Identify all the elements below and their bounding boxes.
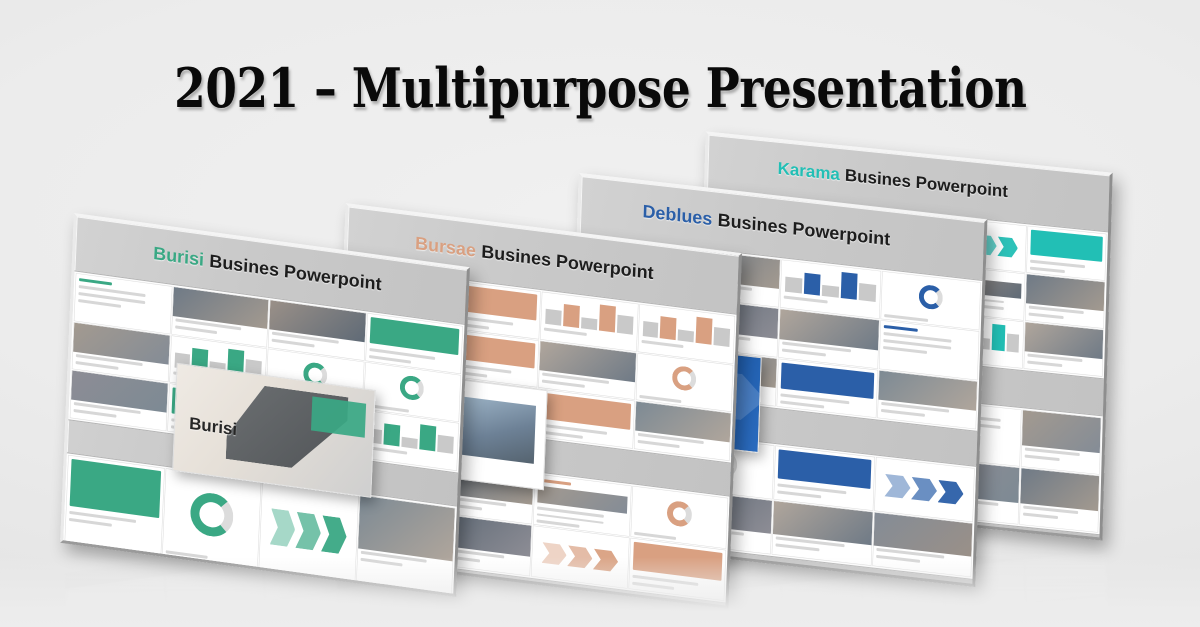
chevron-icon [270, 508, 296, 547]
slide-text-line [637, 440, 680, 448]
brand-name-burisi: Burisi [153, 243, 205, 271]
slide-text-line [1030, 267, 1065, 274]
slide-thumbnail[interactable] [531, 526, 628, 588]
slide-photo [1025, 322, 1104, 358]
slide-text-line [175, 325, 218, 334]
chevron-icon [541, 542, 567, 566]
slide-thumbnail[interactable] [537, 389, 634, 448]
slide-chevron-arrows [531, 526, 628, 588]
slide-photo [1022, 410, 1101, 453]
brand-name-karama: Karama [777, 159, 840, 185]
chevron-icon [567, 545, 593, 569]
slide-thumbnail[interactable] [774, 446, 874, 510]
slide-thumbnail[interactable] [879, 321, 979, 379]
chevron-icon [593, 548, 619, 572]
chart-bar [402, 436, 418, 449]
chart-bar [678, 330, 694, 343]
chart-bar [642, 321, 658, 338]
slide-thumbnail[interactable] [872, 512, 972, 576]
slide-thumbnail[interactable] [1020, 468, 1099, 532]
slide-text-line [272, 339, 315, 348]
chart-bar [563, 304, 580, 328]
slide-thumbnail[interactable] [162, 469, 261, 568]
slide-thumbnail[interactable] [356, 495, 455, 594]
hero-accent-shape [311, 396, 366, 437]
slide-text-line [782, 348, 826, 356]
slide-accent-block [781, 362, 874, 399]
slide-text-line [1025, 454, 1060, 461]
chart-bar [696, 317, 713, 345]
slide-text-line [1029, 312, 1064, 319]
chart-bar [384, 423, 401, 447]
chevron-icon [295, 512, 321, 551]
slide-text-line [784, 296, 828, 304]
slide-text-line [69, 518, 112, 527]
slide-text-line [78, 299, 121, 308]
slide-chevron-arrows [874, 457, 974, 521]
slide-text-line [1027, 360, 1062, 367]
chevron-icon [997, 237, 1018, 258]
slide-text-line [540, 430, 583, 438]
chart-bar [785, 277, 802, 294]
slide-thumbnail[interactable] [533, 474, 630, 536]
slide-thumbnail[interactable] [874, 457, 974, 521]
slide-text-line [74, 409, 117, 418]
brand-name-bursae: Bursae [415, 233, 477, 262]
chart-bar [437, 435, 454, 455]
slide-photo [1020, 468, 1099, 511]
slide-thumbnail[interactable] [631, 486, 728, 548]
chart-bar [581, 317, 597, 330]
slide-text-line [632, 581, 675, 589]
page-title-container: 2021 – Multipurpose Presentation [0, 56, 1200, 120]
slide-text-line [542, 379, 585, 387]
chart-bar [419, 424, 436, 452]
slide-accent-rule [883, 325, 917, 332]
hero-photo [452, 396, 536, 464]
slide-text-line [544, 328, 587, 336]
chart-bar [616, 315, 633, 335]
chart-bar [840, 272, 857, 300]
slide-thumbnail[interactable] [779, 309, 879, 367]
template-panel-burisi[interactable]: Burisi Busines Powerpoint Burisi [60, 213, 470, 597]
slide-thumbnail[interactable] [1027, 226, 1106, 280]
hero-word-burisi: Burisi [189, 414, 238, 441]
donut-ring [400, 375, 425, 402]
slide-text-line [881, 409, 925, 417]
slide-accent-rule [79, 278, 112, 286]
slide-text-line [883, 346, 927, 354]
chevron-icon [885, 474, 911, 499]
slide-thumbnail[interactable] [881, 272, 981, 330]
slide-text-line [876, 555, 920, 563]
chart-bar [714, 327, 731, 347]
panel-suffix-burisi: Busines Powerpoint [209, 250, 382, 295]
slide-thumbnail[interactable] [777, 359, 877, 417]
chart-bar [803, 272, 820, 296]
slide-accent-block [541, 393, 631, 430]
donut-ring [672, 365, 697, 392]
chevron-icon [321, 515, 347, 554]
slide-accent-block [632, 542, 722, 581]
chart-bar [859, 283, 876, 303]
slide-text-line [641, 340, 684, 348]
page-title: 2021 – Multipurpose Presentation [174, 56, 1026, 120]
slide-thumbnail[interactable] [259, 482, 358, 581]
slide-thumbnail[interactable] [1025, 274, 1104, 328]
slide-thumbnail[interactable] [877, 370, 977, 428]
panel-suffix-bursae: Busines Powerpoint [481, 241, 654, 284]
panel-suffix-deblues: Busines Powerpoint [717, 209, 890, 250]
chart-bar [822, 285, 839, 298]
chart-bar [660, 317, 677, 341]
chart-bar [1006, 334, 1019, 353]
donut-ring [189, 490, 234, 539]
slide-donut-chart [162, 469, 260, 561]
brand-name-deblues: Deblues [642, 201, 713, 230]
slide-thumbnail[interactable] [634, 402, 731, 461]
panel-suffix-karama: Busines Powerpoint [845, 166, 1009, 203]
slide-thumbnail[interactable] [780, 260, 880, 318]
slide-text-line [775, 543, 819, 551]
chart-bar [599, 305, 616, 333]
slide-photo [1026, 274, 1105, 310]
slide-text-line [780, 400, 824, 408]
slide-thumbnail[interactable] [629, 538, 726, 600]
slide-accent-block [778, 449, 871, 489]
slide-thumbnail[interactable] [1024, 322, 1103, 376]
slide-accent-block [70, 459, 161, 518]
chevron-icon [938, 480, 964, 505]
donut-ring [918, 284, 943, 311]
slide-text-line [369, 355, 412, 364]
slide-thumbnail[interactable] [1021, 410, 1100, 474]
slide-thumbnail[interactable] [65, 455, 164, 554]
slide-accent-block [1030, 230, 1103, 263]
slide-text-line [76, 361, 119, 370]
chevron-icon [911, 477, 937, 502]
donut-ring [666, 500, 692, 528]
slide-text-line [1023, 512, 1058, 519]
slide-text-line [777, 491, 821, 499]
chart-bar [545, 309, 561, 326]
slide-chevron-arrows [259, 482, 358, 581]
slide-text-line [360, 558, 403, 567]
chart-bar [992, 324, 1005, 351]
slide-thumbnail[interactable] [772, 501, 872, 565]
